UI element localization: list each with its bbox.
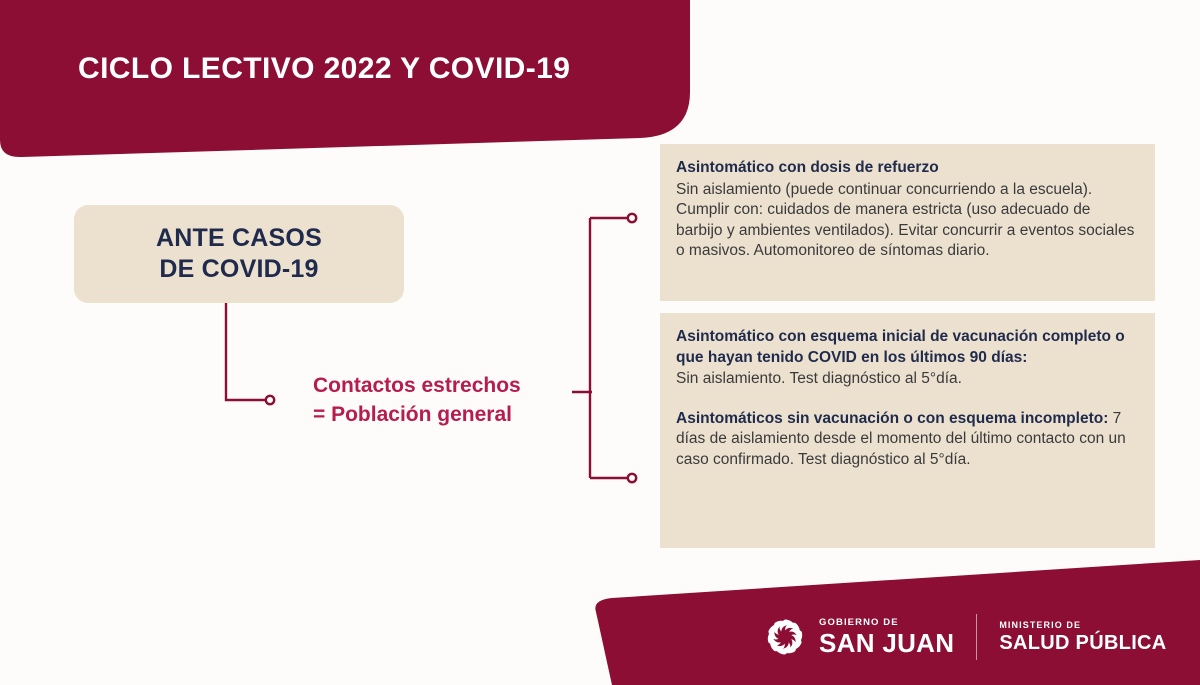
san-juan-sun-icon: [762, 614, 808, 660]
ministry-name: SALUD PÚBLICA: [999, 633, 1166, 653]
branch-label-line-2: = Población general: [313, 401, 521, 430]
page-title: CICLO LECTIVO 2022 Y COVID-19: [78, 52, 570, 86]
branch-label-line-1: Contactos estrechos: [313, 372, 521, 401]
panel-3-title: Asintomáticos sin vacunación o con esque…: [676, 410, 1108, 427]
panel-1-title: Asintomático con dosis de refuerzo: [676, 158, 1139, 179]
info-panel-refuerzo: Asintomático con dosis de refuerzo Sin a…: [660, 144, 1155, 301]
footer-divider: [976, 614, 977, 660]
node-title-line-2: DE COVID-19: [159, 254, 318, 285]
ministry-wordmark: MINISTERIO DE SALUD PÚBLICA: [999, 621, 1166, 653]
government-wordmark: GOBIERNO DE SAN JUAN: [819, 618, 954, 656]
panel-3-paragraph: Asintomáticos sin vacunación o con esque…: [676, 409, 1139, 471]
connector-endpoint-panel-1: [628, 214, 636, 222]
ministry-eyebrow: MINISTERIO DE: [999, 621, 1166, 630]
government-name: SAN JUAN: [819, 630, 954, 656]
branch-label-contactos-estrechos: Contactos estrechos = Población general: [313, 372, 521, 430]
panel-2-spacer: [676, 390, 1139, 409]
connector-node-to-branch: [226, 303, 266, 400]
infographic-canvas: CICLO LECTIVO 2022 Y COVID-19 ANTE CASOS…: [0, 0, 1200, 685]
info-panel-esquemas: Asintomático con esquema inicial de vacu…: [660, 313, 1155, 548]
panel-2-body: Sin aislamiento. Test diagnóstico al 5°d…: [676, 369, 1139, 390]
connector-endpoint-panel-2: [628, 474, 636, 482]
government-eyebrow: GOBIERNO DE: [819, 618, 954, 628]
panel-1-body: Sin aislamiento (puede continuar concurr…: [676, 180, 1139, 262]
node-ante-casos: ANTE CASOS DE COVID-19: [74, 205, 404, 303]
connector-endpoint-branch: [266, 396, 274, 404]
footer-logo-lockup: GOBIERNO DE SAN JUAN MINISTERIO DE SALUD…: [762, 610, 1167, 664]
node-title-line-1: ANTE CASOS: [156, 223, 322, 254]
panel-2-title: Asintomático con esquema inicial de vacu…: [676, 327, 1139, 368]
